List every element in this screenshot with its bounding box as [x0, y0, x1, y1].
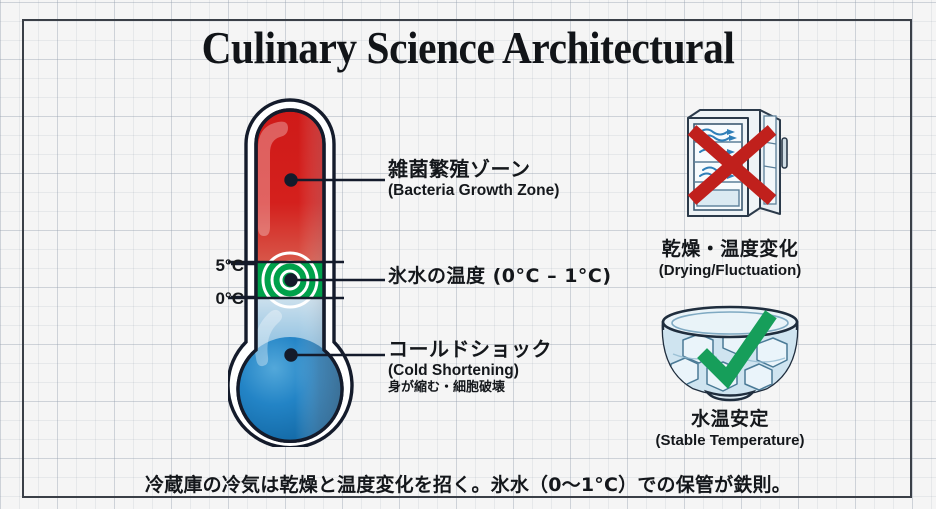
- callout-icewater-jp: 氷水の温度 (0°C – 1°C): [388, 266, 612, 288]
- icon-block-refrigerator: 乾燥・温度変化 (Drying/Fluctuation): [620, 104, 840, 279]
- callout-coldshock-jp: コールドショック: [388, 338, 552, 361]
- callout-cold-shock: コールドショック (Cold Shortening) 身が縮む・細胞破壊: [388, 338, 552, 397]
- callout-bacteria-en: (Bacteria Growth Zone): [388, 181, 559, 200]
- scale-label-0c: 0°C: [196, 289, 244, 309]
- fridge-caption-jp: 乾燥・温度変化: [620, 234, 840, 261]
- scale-label-5c: 5°C: [196, 256, 244, 276]
- callout-bacteria-jp: 雑菌繁殖ゾーン: [388, 158, 559, 181]
- callout-coldshock-en: (Cold Shortening): [388, 361, 552, 380]
- refrigerator-icon: [620, 104, 840, 232]
- ice-water-bowl-icon: [620, 296, 840, 402]
- bowl-caption-en: (Stable Temperature): [620, 432, 840, 449]
- page-title: Culinary Science Architectural: [37, 22, 898, 74]
- callout-bacteria-growth-zone: 雑菌繁殖ゾーン (Bacteria Growth Zone): [388, 158, 559, 200]
- fridge-caption-en: (Drying/Fluctuation): [620, 262, 840, 279]
- bottom-caption: 冷蔵庫の冷気は乾燥と温度変化を招く。氷水（0〜1°C）での保管が鉄則。: [0, 470, 936, 497]
- callout-ice-water-temperature: 氷水の温度 (0°C – 1°C): [388, 266, 612, 288]
- icon-block-ice-water-bowl: 水温安定 (Stable Temperature): [620, 296, 840, 449]
- callout-coldshock-sub: 身が縮む・細胞破壊: [388, 380, 552, 397]
- bowl-caption-jp: 水温安定: [620, 404, 840, 431]
- thermometer-graphic: [228, 92, 356, 447]
